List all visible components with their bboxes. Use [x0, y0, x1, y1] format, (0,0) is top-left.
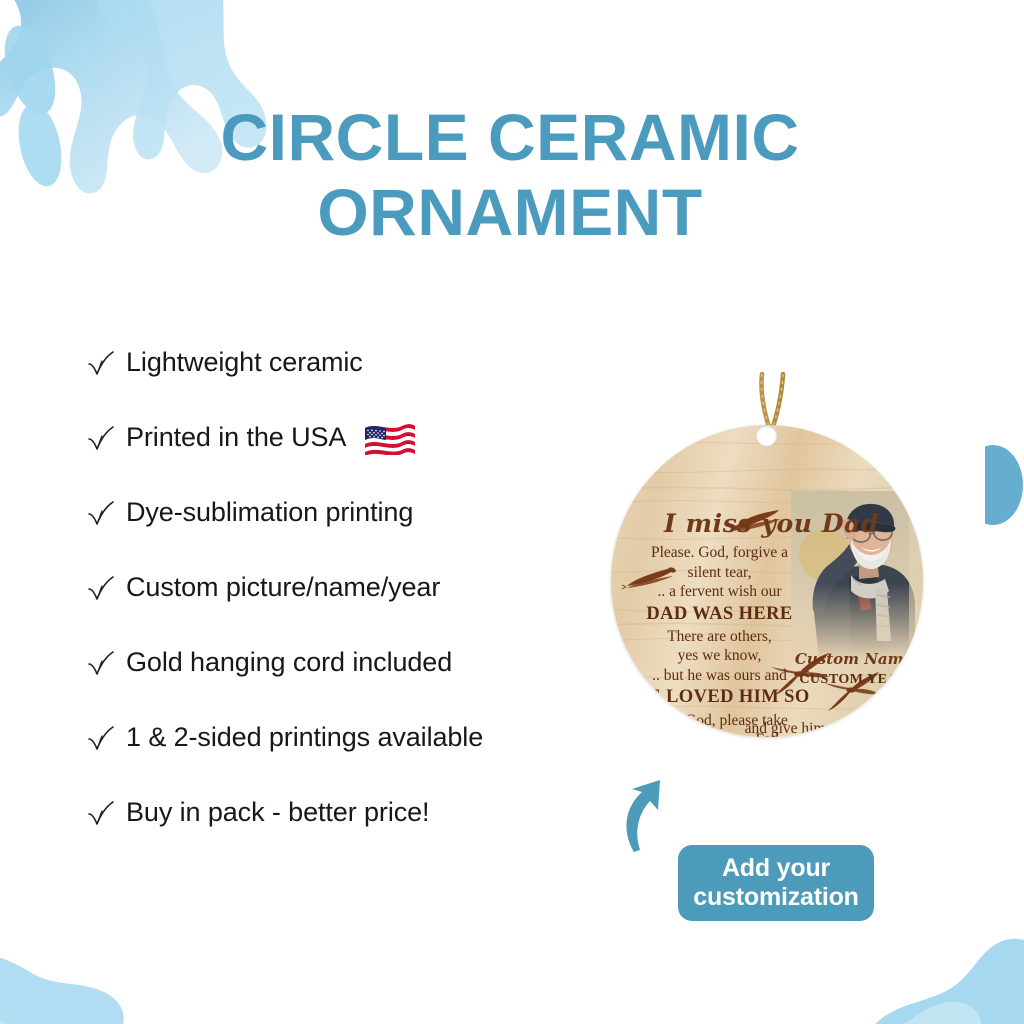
product-infographic: CIRCLE CERAMIC ORNAMENT Lightweight cera… [0, 0, 1024, 1024]
watercolor-decor-bottom-left [0, 920, 190, 1024]
check-icon [86, 574, 116, 604]
custom-photo-placeholder [791, 491, 919, 659]
add-customization-button[interactable]: Add your customization [678, 845, 874, 921]
feature-item: Buy in pack - better price! [86, 775, 606, 850]
check-icon [86, 799, 116, 829]
dragonfly-icon-left [621, 563, 679, 593]
feature-item: Dye-sublimation printing [86, 475, 606, 550]
check-icon [86, 349, 116, 379]
watercolor-decor-right-dot [985, 445, 1024, 525]
check-icon [86, 724, 116, 754]
check-icon [86, 724, 116, 754]
check-icon [86, 424, 116, 454]
page-title-line-2: ORNAMENT [90, 175, 930, 250]
feature-label: Gold hanging cord included [126, 647, 452, 678]
curved-up-arrow-icon [618, 780, 680, 852]
check-icon [86, 499, 116, 529]
feature-list: Lightweight ceramicPrinted in the USADye… [86, 325, 606, 850]
product-ornament: I miss you Dad Please. God, forgive a si… [608, 372, 928, 762]
feature-item: Gold hanging cord included [86, 625, 606, 700]
feature-label: Printed in the USA [126, 422, 346, 453]
cord-hole [756, 425, 777, 446]
feature-item: Custom picture/name/year [86, 550, 606, 625]
cta-line-2: customization [693, 883, 858, 912]
page-title-line-1: CIRCLE CERAMIC [90, 100, 930, 175]
feature-item: 1 & 2-sided printings available [86, 700, 606, 775]
ceramic-disc: I miss you Dad Please. God, forgive a si… [611, 425, 923, 737]
check-icon [86, 349, 116, 379]
page-title: CIRCLE CERAMIC ORNAMENT [90, 100, 930, 249]
check-icon [86, 649, 116, 679]
check-icon [86, 574, 116, 604]
check-icon [86, 499, 116, 529]
feature-label: Custom picture/name/year [126, 572, 440, 603]
cta-line-1: Add your [722, 854, 830, 883]
feature-label: Lightweight ceramic [126, 347, 363, 378]
usa-flag-icon [364, 421, 416, 455]
feature-item: Printed in the USA [86, 400, 606, 475]
dragonfly-icon-top [729, 505, 785, 535]
feature-item: Lightweight ceramic [86, 325, 606, 400]
check-icon [86, 424, 116, 454]
dragonfly-icon-bottom-center [769, 653, 831, 695]
usa-flag-icon [364, 421, 416, 455]
feature-label: Dye-sublimation printing [126, 497, 413, 528]
feature-label: Buy in pack - better price! [126, 797, 429, 828]
feature-label: 1 & 2-sided printings available [126, 722, 483, 753]
dragonfly-icon-bottom-right [823, 671, 881, 711]
check-icon [86, 649, 116, 679]
check-icon [86, 799, 116, 829]
